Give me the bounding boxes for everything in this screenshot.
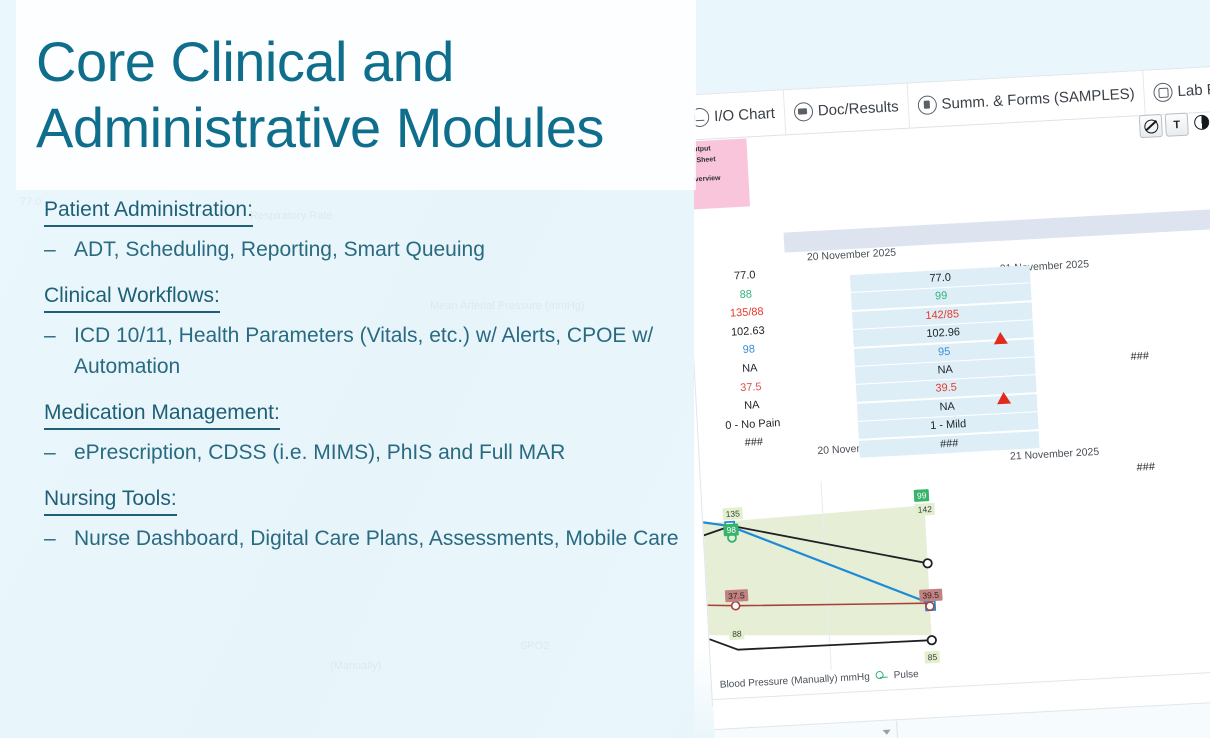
tab-label: Summ. & Forms (SAMPLES) [941, 85, 1135, 112]
group-heading: Clinical Workflows: [44, 282, 220, 313]
bullet-dash: – [44, 320, 74, 382]
point-label: 135 [722, 507, 743, 520]
contrast-icon[interactable] [1191, 111, 1210, 133]
group-heading: Nursing Tools: [44, 485, 177, 516]
alert-triangle-icon [996, 392, 1011, 405]
folder-icon [793, 101, 813, 121]
tab-doc-results[interactable]: Doc/Results [784, 84, 910, 135]
group-patient-administration: Patient Administration: – ADT, Schedulin… [44, 196, 694, 265]
point-label: 39.5 [919, 589, 942, 602]
bullet-item: – ePrescription, CDSS (i.e. MIMS), PhIS … [44, 437, 694, 468]
bullet-item: – ADT, Scheduling, Reporting, Smart Queu… [44, 234, 694, 265]
table-header-band [784, 208, 1210, 253]
ghost-text: (Manually) [330, 660, 381, 672]
bullet-text: ICD 10/11, Health Parameters (Vitals, et… [74, 320, 694, 382]
group-heading: Medication Management: [44, 399, 280, 430]
table-column-day-3[interactable]: ### ### [1050, 269, 1210, 481]
sticky-line-2: nce Sheet [694, 153, 745, 167]
group-heading: Patient Administration: [44, 196, 253, 227]
embedded-product-screenshot: I/O Chart Doc/Results Summ. & Forms (SAM… [694, 0, 1210, 738]
bullet-dash: – [44, 523, 74, 554]
slide-body: Patient Administration: – ADT, Schedulin… [44, 196, 694, 571]
ehr-application-window: I/O Chart Doc/Results Summ. & Forms (SAM… [694, 66, 1210, 705]
bullet-item: – Nurse Dashboard, Digital Care Plans, A… [44, 523, 694, 554]
text-tool-label: T [1173, 119, 1180, 131]
bullet-item: – ICD 10/11, Health Parameters (Vitals, … [44, 320, 694, 382]
group-nursing-tools: Nursing Tools: – Nurse Dashboard, Digita… [44, 485, 694, 554]
bullet-dash: – [44, 437, 74, 468]
vitals-trend-chart: 135 98 37.5 88 99 142 39.5 85 [701, 457, 1210, 677]
ghost-text: SPO2 [520, 640, 549, 652]
sticky-note: e/Output nce Sheet s Overview [694, 138, 750, 210]
point-label: 37.5 [725, 589, 748, 602]
tab-label: Lab Result [1177, 79, 1210, 100]
lab-flask-icon [1153, 82, 1173, 102]
group-clinical-workflows: Clinical Workflows: – ICD 10/11, Health … [44, 282, 694, 382]
bullet-text: ePrescription, CDSS (i.e. MIMS), PhIS an… [74, 437, 694, 468]
tab-label: I/O Chart [714, 104, 776, 124]
chart-canvas [701, 457, 1210, 677]
bullet-text: ADT, Scheduling, Reporting, Smart Queuin… [74, 234, 694, 265]
page-title-line-2: Administrative Modules [36, 95, 696, 161]
legend-label-pulse: Pulse [893, 669, 919, 681]
title-panel: Core Clinical and Administrative Modules [16, 0, 696, 190]
bullet-text: Nurse Dashboard, Digital Care Plans, Ass… [74, 523, 694, 554]
chevron-down-icon[interactable] [883, 730, 891, 735]
text-tool-icon[interactable]: T [1165, 113, 1189, 137]
chart-line-icon [694, 107, 710, 127]
bullet-dash: – [44, 234, 74, 265]
sticky-line-3: s Overview [694, 173, 746, 187]
point-label: 85 [924, 651, 940, 664]
tab-lab-result[interactable]: Lab Result [1143, 65, 1210, 115]
table-column-day-2-selected[interactable]: 77.0 99 142/85 102.96 95 NA 39.5 NA 1 - … [850, 265, 1040, 458]
pulse-icon [875, 671, 888, 683]
point-label: 88 [729, 627, 745, 640]
vitals-table: 20 November 2025 21 November 2025 20 Nov… [694, 215, 1210, 495]
presentation-slide: 77.0 Respiratory Rate Mean Arterial Pres… [0, 0, 1210, 738]
tab-io-chart[interactable]: I/O Chart [694, 90, 786, 140]
alert-triangle-icon [993, 332, 1008, 345]
ghost-text: 77.0 [20, 196, 41, 208]
document-icon [917, 95, 937, 115]
page-title-line-1: Core Clinical and [36, 29, 696, 95]
point-label: 99 [914, 489, 930, 502]
table-column-day-1[interactable]: 77.0 88 135/88 102.63 98 NA 37.5 NA 0 - … [694, 264, 809, 456]
no-entry-icon[interactable] [1139, 114, 1163, 138]
point-label: 142 [914, 503, 935, 516]
group-medication-management: Medication Management: – ePrescription, … [44, 399, 694, 468]
point-label: 98 [723, 523, 739, 536]
toolbar-icon-buttons[interactable]: T [1139, 110, 1210, 138]
tab-label: Doc/Results [817, 98, 899, 119]
